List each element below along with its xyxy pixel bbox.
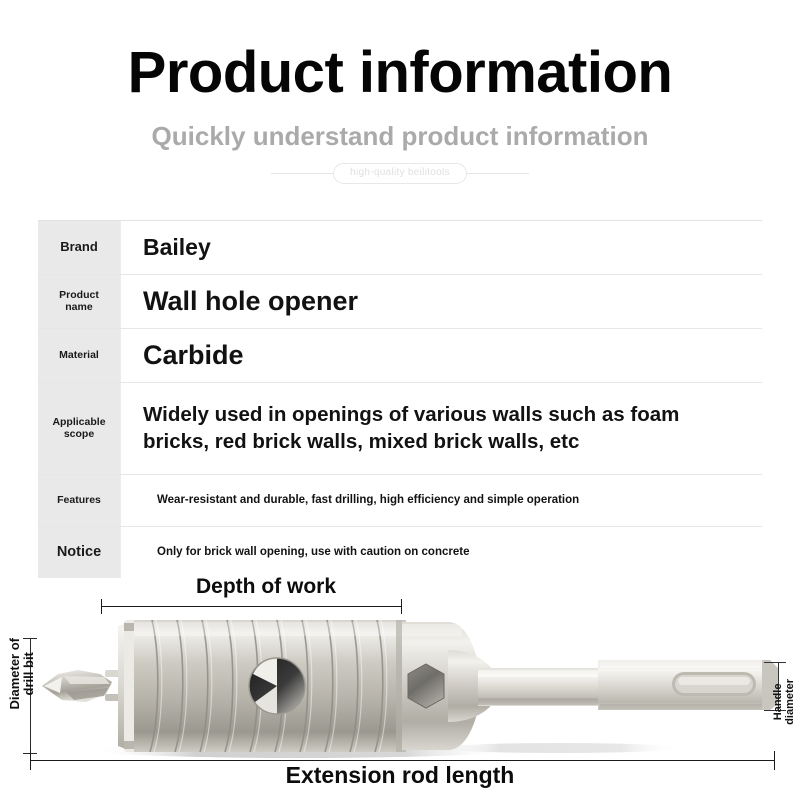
row-label-notice: Notice [38,527,120,578]
row-label-applicable-scope: Applicable scope [38,383,120,474]
row-label-features: Features [38,475,120,526]
table-row: Notice Only for brick wall opening, use … [38,527,762,578]
diameter-of-drill-bit-label: Diameter of drill bit [8,624,36,724]
row-value-features: Wear-resistant and durable, fast drillin… [120,475,762,526]
row-label-brand: Brand [38,221,120,274]
badge-rule-left [271,173,333,174]
row-value-brand: Bailey [120,221,762,274]
brand-badge-row: high-quality beilitools [0,160,800,186]
product-name-value-text: Wall hole opener [143,286,358,317]
row-label-material: Material [38,329,120,382]
row-value-applicable-scope: Widely used in openings of various walls… [120,383,762,474]
product-information-page: Product information Quickly understand p… [0,0,800,800]
notice-value-text: Only for brick wall opening, use with ca… [143,545,469,559]
row-value-product-name: Wall hole opener [120,275,762,328]
table-row: Material Carbide [38,329,762,383]
material-value-text: Carbide [143,340,244,371]
table-row: Features Wear-resistant and durable, fas… [38,475,762,527]
row-value-notice: Only for brick wall opening, use with ca… [120,527,762,578]
brand-value-text: Bailey [143,234,211,261]
applicable-scope-value-text: Widely used in openings of various walls… [143,402,723,455]
page-header: Product information Quickly understand p… [0,0,800,200]
specification-table: Brand Bailey Product name Wall hole open… [38,220,762,575]
table-row: Brand Bailey [38,221,762,275]
depth-of-work-label: Depth of work [196,576,336,597]
brand-badge: high-quality beilitools [333,163,467,184]
badge-rule-right [467,173,529,174]
extension-rod-length-label: Extension rod length [0,764,800,787]
page-subtitle: Quickly understand product information [0,123,800,149]
row-label-product-name: Product name [38,275,120,328]
table-row: Product name Wall hole opener [38,275,762,329]
depth-of-work-dimension-line [101,606,402,607]
features-value-text: Wear-resistant and durable, fast drillin… [143,493,579,507]
page-title: Product information [0,44,800,102]
table-row: Applicable scope Widely used in openings… [38,383,762,475]
extension-rod-length-dimension-line [30,760,775,761]
handle-diameter-label: Handle diameter [773,659,797,745]
row-value-material: Carbide [120,329,762,382]
